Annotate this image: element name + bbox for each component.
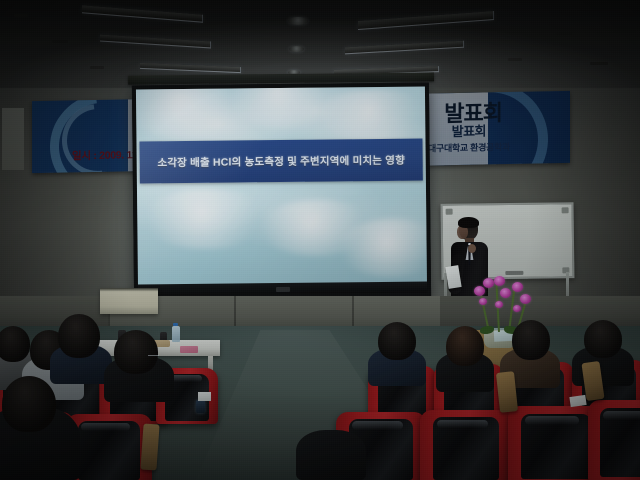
whiteboard-marker-tray [505,271,523,275]
side-poster [2,108,24,170]
panel-seam [352,296,354,330]
orchid-bloom [479,298,487,305]
banner-organization: 대구대학교 환경공학과 [428,140,510,155]
whiteboard-corner [562,207,569,213]
audience-member-10 [296,430,366,480]
seat-highlight [525,416,579,425]
banner-subtitle-right: 발표회 [452,120,486,140]
screen-pull-handle[interactable] [276,287,290,292]
panel-seam [234,296,236,330]
audience-head [58,314,100,358]
presenter-hand [468,244,476,253]
paper-handout [198,392,211,401]
presenter-hair [458,217,479,228]
screen-gloss [136,86,427,285]
screen-surface: 소각장 배출 HCl의 농도측정 및 주변지역에 미치는 영향 [136,86,427,285]
whiteboard-corner [446,209,453,215]
wall-radiator [100,288,158,314]
pink-item [180,346,198,353]
bottle-cap [173,323,178,326]
seat[interactable] [420,410,512,480]
bottle-water [172,326,180,342]
orchid-bloom [500,288,511,298]
audience-head [378,322,416,360]
seat-highlight [352,421,402,430]
seat[interactable] [588,400,640,480]
orchid-bloom [474,286,485,296]
audience-head [2,376,56,432]
orchid-bloom [495,301,503,308]
orchid-bloom [520,294,531,304]
audience-head [584,320,622,358]
seminar-photo: 대구대 발표회 대구 발표회 일시 : 2009. 11. 20(금) 대구대학… [0,0,640,480]
audience-head [446,326,484,366]
seat-highlight [603,411,640,421]
seat-highlight [81,423,129,431]
orchid-bloom [512,282,523,292]
projection-screen: 소각장 배출 HCl의 농도측정 및 주변지역에 미치는 영향 [132,82,431,299]
mobile-phone[interactable] [196,400,205,413]
eyeglasses [148,352,159,356]
audience-head [0,326,30,362]
orchid-bloom [483,278,494,288]
orchid-bloom [494,276,505,286]
seat-armrest [140,423,159,470]
seat-highlight [437,420,489,429]
audience-head [512,320,550,360]
orchid-bloom [513,305,521,312]
